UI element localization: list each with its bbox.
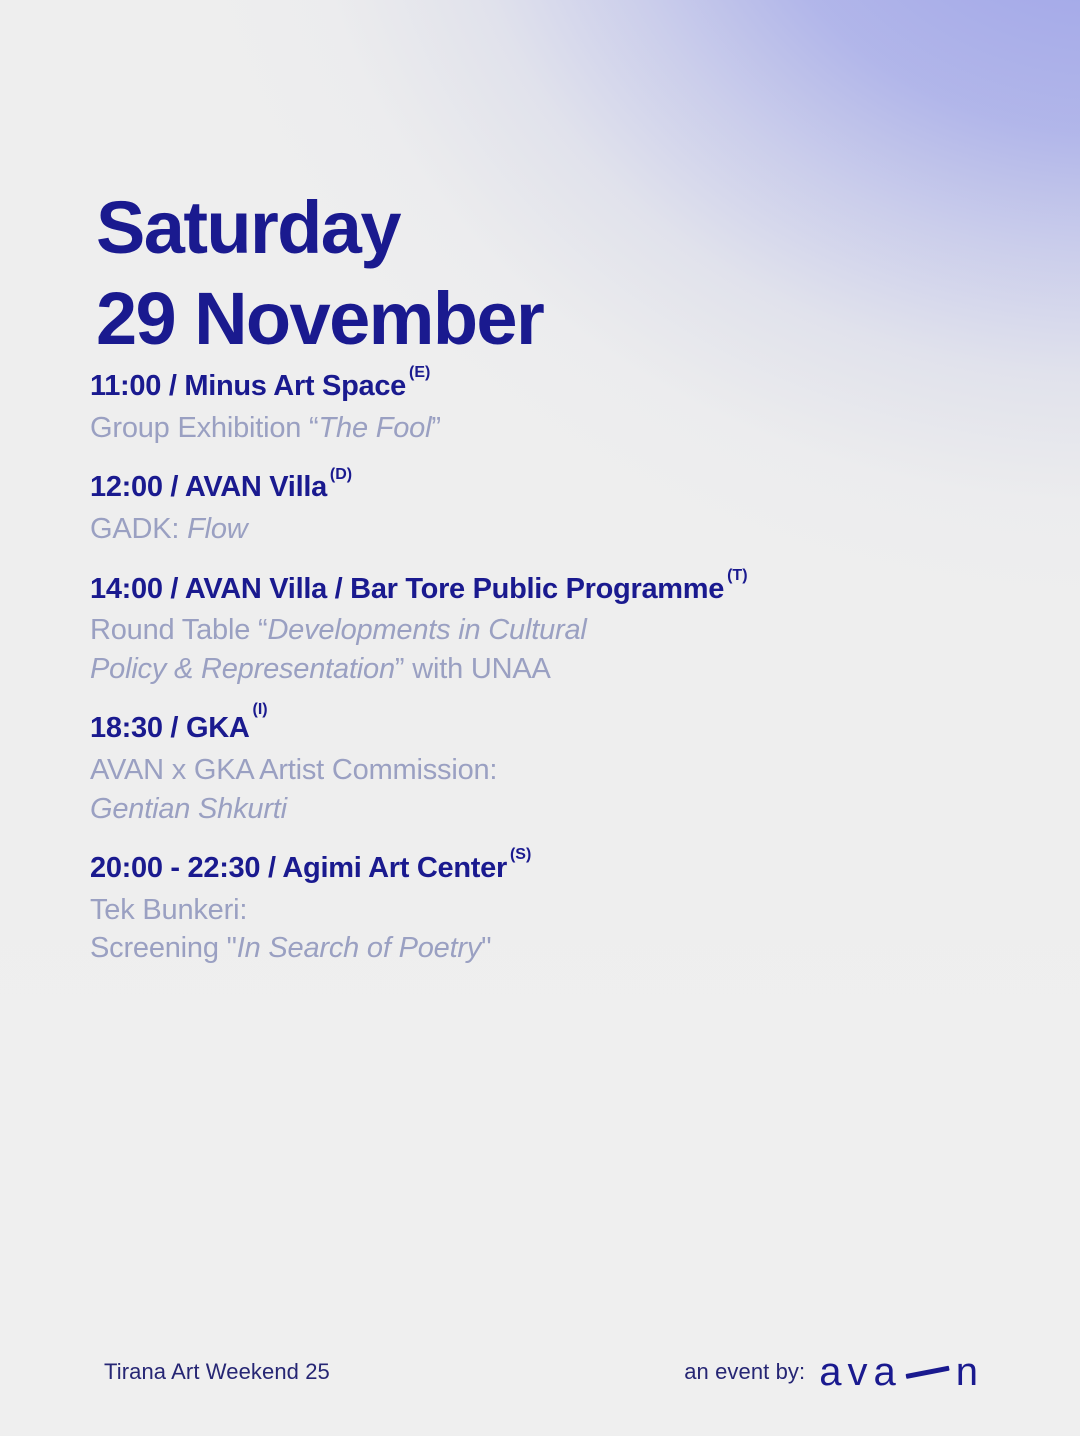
footer: Tirana Art Weekend 25 an event by: a v a…: [0, 1352, 1080, 1392]
event-description-text: Tek Bunkeri:: [90, 894, 247, 926]
event-description-line: AVAN x GKA Artist Commission:: [90, 751, 1020, 790]
event-description-text: GADK:: [90, 513, 187, 545]
schedule-event: 11:00 / Minus Art Space(E)Group Exhibiti…: [90, 368, 1020, 447]
event-heading: 11:00 / Minus Art Space(E): [90, 368, 1020, 406]
event-time-venue: 14:00 / AVAN Villa / Bar Tore Public Pro…: [90, 573, 724, 605]
event-category-superscript: (T): [727, 567, 747, 584]
avan-logo-letter-n: n: [956, 1352, 984, 1392]
event-description-text: Round Table “: [90, 614, 267, 646]
event-heading: 20:00 - 22:30 / Agimi Art Center(S): [90, 850, 1020, 888]
event-description-text: Screening ": [90, 932, 237, 964]
footer-event-name: Tirana Art Weekend 25: [104, 1359, 330, 1385]
footer-credit-label: an event by:: [684, 1359, 805, 1385]
schedule-event: 18:30 / GKA(I)AVAN x GKA Artist Commissi…: [90, 710, 1020, 828]
avan-logo-letter-a2: a: [874, 1352, 902, 1392]
event-description-text: Group Exhibition “: [90, 412, 319, 444]
event-description-line: Group Exhibition “The Fool”: [90, 409, 1020, 448]
event-time-venue: 20:00 - 22:30 / Agimi Art Center: [90, 852, 507, 884]
event-category-superscript: (S): [510, 846, 531, 863]
event-description-line: Round Table “Developments in Cultural: [90, 611, 1020, 650]
avan-logo-letter-a1: a: [819, 1352, 847, 1392]
schedule-event: 14:00 / AVAN Villa / Bar Tore Public Pro…: [90, 571, 1020, 689]
event-category-superscript: (D): [330, 466, 352, 483]
event-work-title: The Fool: [319, 412, 432, 444]
event-heading: 18:30 / GKA(I): [90, 710, 1020, 748]
event-description-line: Policy & Representation” with UNAA: [90, 650, 1020, 689]
event-category-superscript: (E): [409, 364, 430, 381]
avan-logo-letter-v: v: [848, 1352, 874, 1392]
schedule-event: 20:00 - 22:30 / Agimi Art Center(S)Tek B…: [90, 850, 1020, 968]
event-description-line: Tek Bunkeri:: [90, 891, 1020, 930]
event-time-venue: 12:00 / AVAN Villa: [90, 471, 327, 503]
avan-logo: a v a n: [819, 1352, 984, 1392]
event-work-title: Policy & Representation: [90, 653, 395, 685]
event-work-title: Developments in Cultural: [267, 614, 586, 646]
event-description-line: Gentian Shkurti: [90, 790, 1020, 829]
event-heading: 12:00 / AVAN Villa(D): [90, 469, 1020, 507]
event-description-line: Screening "In Search of Poetry": [90, 929, 1020, 968]
event-work-title: Flow: [187, 513, 247, 545]
event-description-text: ": [481, 932, 491, 964]
page-title: Saturday 29 November: [96, 182, 543, 366]
schedule-event: 12:00 / AVAN Villa(D)GADK: Flow: [90, 469, 1020, 548]
event-description-text: ”: [431, 412, 440, 444]
event-description-text: ” with UNAA: [395, 653, 551, 685]
event-time-venue: 11:00 / Minus Art Space: [90, 370, 406, 402]
footer-credit-group: an event by: a v a n: [684, 1352, 984, 1392]
schedule-list: 11:00 / Minus Art Space(E)Group Exhibiti…: [90, 368, 1020, 968]
poster-content: Saturday 29 November 11:00 / Minus Art S…: [0, 0, 1080, 1436]
event-work-title: Gentian Shkurti: [90, 793, 287, 825]
avan-logo-dash-icon: [904, 1352, 952, 1392]
poster-canvas: Saturday 29 November 11:00 / Minus Art S…: [0, 0, 1080, 1436]
event-description-line: GADK: Flow: [90, 510, 1020, 549]
event-time-venue: 18:30 / GKA: [90, 712, 250, 744]
event-category-superscript: (I): [253, 701, 268, 718]
event-work-title: In Search of Poetry: [237, 932, 481, 964]
event-heading: 14:00 / AVAN Villa / Bar Tore Public Pro…: [90, 571, 1020, 609]
event-description-text: AVAN x GKA Artist Commission:: [90, 754, 497, 786]
